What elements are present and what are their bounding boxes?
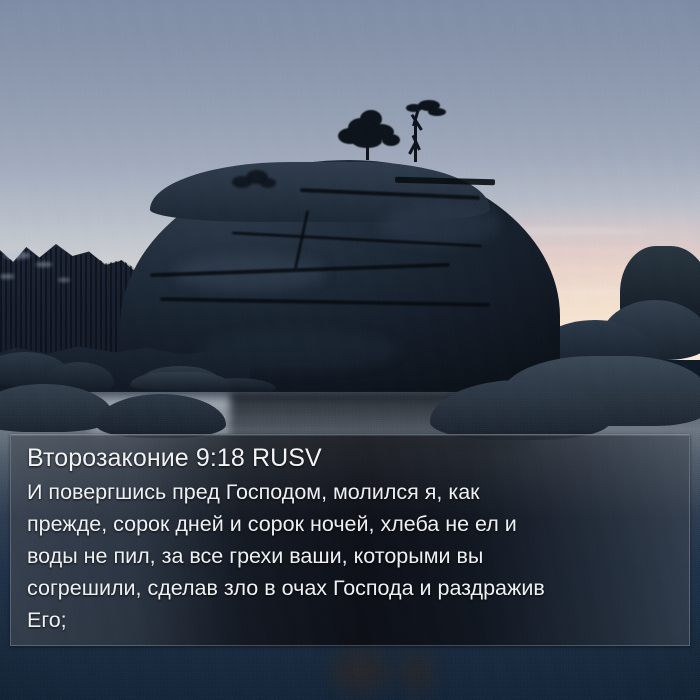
verse-line: воды не пил, за все грехи ваши, которыми… <box>27 540 673 572</box>
scene-image: Второзаконие 9:18 RUSV И повергшись пред… <box>0 0 700 700</box>
verse-line: согрешили, сделав зло в очах Господа и р… <box>27 572 673 604</box>
verse-reference: Второзаконие 9:18 RUSV <box>27 441 673 475</box>
verse-line: И повергшись пред Господом, молился я, к… <box>27 476 673 508</box>
snow-patch <box>0 274 14 279</box>
verse-line: прежде, сорок дней и сорок ночей, хлеба … <box>27 508 673 540</box>
bushy-pine-silhouette <box>338 108 400 160</box>
small-shrub-silhouette <box>232 166 276 192</box>
snow-patch <box>58 278 70 282</box>
snow-patch <box>4 252 30 259</box>
verse-text: И повергшись пред Господом, молился я, к… <box>27 476 673 636</box>
verse-overlay-panel: Второзаконие 9:18 RUSV И повергшись пред… <box>10 434 690 646</box>
flat-rock-in-water <box>130 372 230 390</box>
verse-line: Его; <box>27 604 673 636</box>
boulder-highlight <box>380 205 500 245</box>
sparse-pine-silhouette <box>398 100 454 162</box>
snow-patch <box>36 262 52 267</box>
